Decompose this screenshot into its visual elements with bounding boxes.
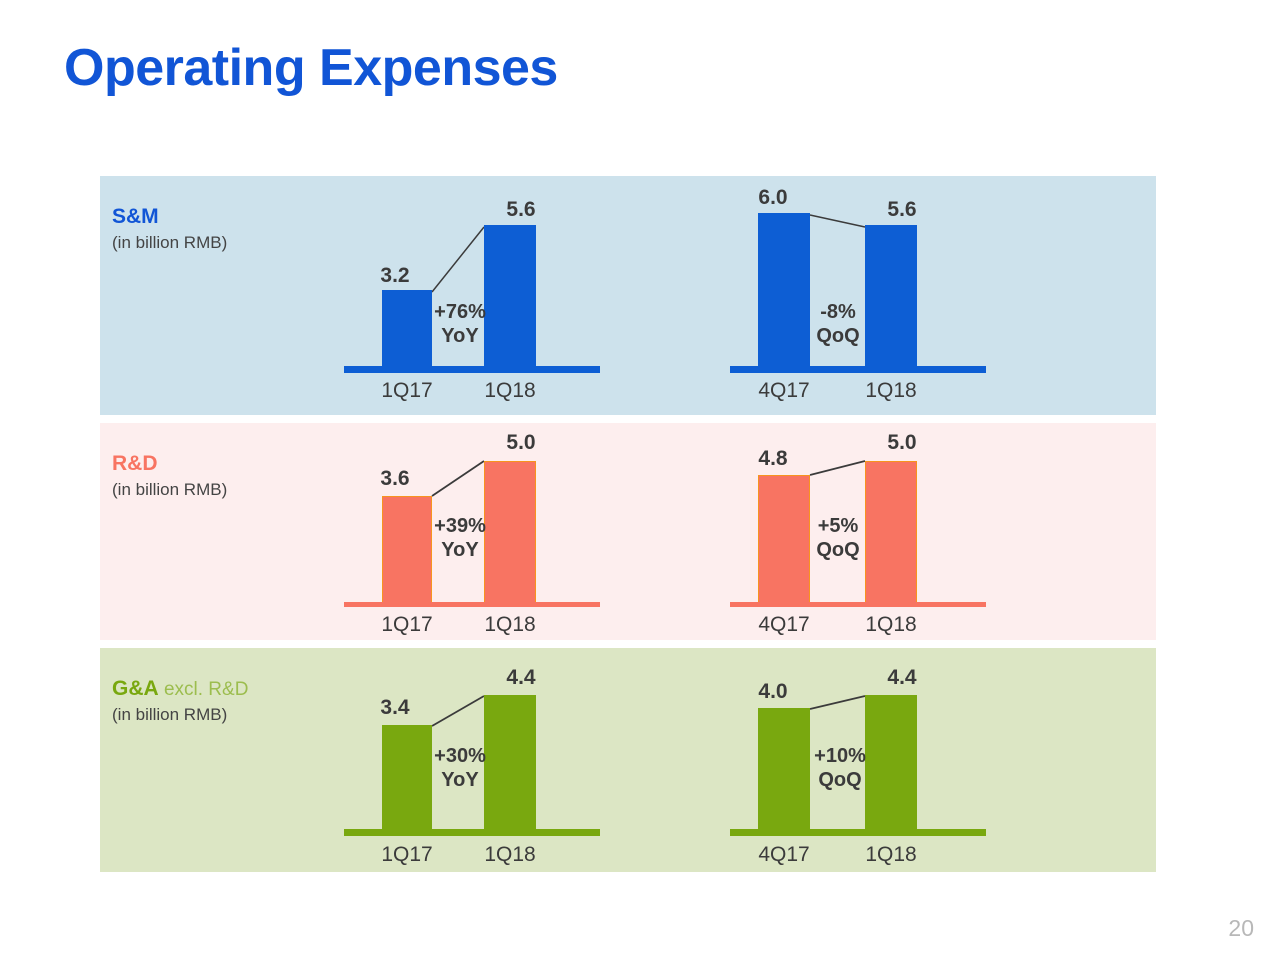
- delta-pct-rd-qoq: +5%: [818, 515, 859, 537]
- chart-rd-yoy: 3.6 5.0 +39% YoY 1Q17 1Q18: [344, 423, 600, 640]
- panel-units-ga: (in billion RMB): [112, 705, 248, 726]
- bar-value-ga-qoq-1: 4.4: [865, 666, 939, 690]
- baseline-sm-yoy: [344, 366, 600, 373]
- baseline-rd-qoq: [730, 602, 986, 607]
- bar-sm-yoy-1q18: [484, 225, 536, 366]
- bar-ga-qoq-4q17: [758, 708, 810, 830]
- panel-category-sm: S&M: [112, 205, 159, 228]
- page-title: Operating Expenses: [64, 42, 558, 94]
- panel-label-sm: S&M (in billion RMB): [112, 204, 227, 253]
- panel-label-ga: G&A excl. R&D (in billion RMB): [112, 676, 248, 725]
- chart-sm-yoy: 3.2 5.6 +76% YoY 1Q17 1Q18: [344, 176, 600, 415]
- cat-label-rd-yoy-0: 1Q17: [364, 613, 450, 637]
- cat-label-sm-yoy-1: 1Q18: [467, 379, 553, 403]
- cat-label-ga-yoy-0: 1Q17: [364, 843, 450, 867]
- delta-rd-yoy: +39% YoY: [432, 515, 488, 562]
- chart-ga-qoq: 4.0 4.4 +10% QoQ 4Q17 1Q18: [730, 648, 986, 872]
- cat-label-sm-yoy-0: 1Q17: [364, 379, 450, 403]
- baseline-rd-yoy: [344, 602, 600, 607]
- panel-units-sm: (in billion RMB): [112, 233, 227, 254]
- baseline-ga-qoq: [730, 829, 986, 836]
- bar-rd-yoy-1q17: [382, 496, 432, 603]
- chart-sm-qoq: 6.0 5.6 -8% QoQ 4Q17 1Q18: [730, 176, 986, 415]
- chart-rd-qoq: 4.8 5.0 +5% QoQ 4Q17 1Q18: [730, 423, 986, 640]
- panel-ga: G&A excl. R&D (in billion RMB) 3.4 4.4 +…: [100, 648, 1156, 872]
- baseline-sm-qoq: [730, 366, 986, 373]
- delta-pct-sm-qoq: -8%: [820, 301, 856, 323]
- cat-label-rd-qoq-1: 1Q18: [848, 613, 934, 637]
- delta-pct-rd-yoy: +39%: [434, 515, 486, 537]
- bar-value-rd-qoq-0: 4.8: [736, 447, 810, 471]
- bar-value-sm-qoq-0: 6.0: [736, 186, 810, 210]
- panel-category-sub-ga: excl. R&D: [159, 679, 249, 700]
- panel-units-rd: (in billion RMB): [112, 480, 227, 501]
- delta-period-sm-yoy: YoY: [441, 325, 478, 347]
- bar-ga-qoq-1q18: [865, 695, 917, 830]
- bar-value-ga-qoq-0: 4.0: [736, 680, 810, 704]
- bar-value-ga-yoy-0: 3.4: [358, 696, 432, 720]
- bar-value-rd-yoy-a: 3.6: [358, 467, 432, 491]
- bar-ga-yoy-1q17: [382, 725, 432, 830]
- panel-label-rd: R&D (in billion RMB): [112, 451, 227, 500]
- delta-period-ga-yoy: YoY: [441, 769, 478, 791]
- delta-period-ga-qoq: QoQ: [818, 769, 861, 791]
- bar-rd-qoq-4q17: [758, 475, 810, 603]
- bar-value-sm-yoy-1: 5.6: [484, 198, 558, 222]
- cat-label-sm-qoq-0: 4Q17: [741, 379, 827, 403]
- delta-sm-yoy: +76% YoY: [432, 301, 488, 348]
- bar-value-rd-yoy-b: 5.0: [484, 431, 558, 455]
- bar-sm-qoq-4q17: [758, 213, 810, 366]
- delta-pct-ga-yoy: +30%: [434, 745, 486, 767]
- cat-label-rd-qoq-0: 4Q17: [741, 613, 827, 637]
- delta-pct-ga-qoq: +10%: [814, 745, 866, 767]
- delta-period-rd-yoy: YoY: [441, 539, 478, 561]
- cat-label-sm-qoq-1: 1Q18: [848, 379, 934, 403]
- bar-value-sm-yoy-0: 3.2: [358, 264, 432, 288]
- bar-ga-yoy-1q18: [484, 695, 536, 830]
- delta-period-sm-qoq: QoQ: [816, 325, 859, 347]
- bar-rd-yoy-1q18: [484, 461, 536, 603]
- delta-period-rd-qoq: QoQ: [816, 539, 859, 561]
- bar-value-rd-qoq-1: 5.0: [865, 431, 939, 455]
- page-number: 20: [1228, 915, 1254, 942]
- baseline-ga-yoy: [344, 829, 600, 836]
- bar-value-sm-qoq-1: 5.6: [865, 198, 939, 222]
- cat-label-ga-yoy-1: 1Q18: [467, 843, 553, 867]
- panel-rd: R&D (in billion RMB) 3.6 5.0 +39% YoY 1Q…: [100, 423, 1156, 640]
- delta-sm-qoq: -8% QoQ: [810, 301, 866, 348]
- bar-rd-qoq-1q18: [865, 461, 917, 603]
- cat-label-rd-yoy-1: 1Q18: [467, 613, 553, 637]
- chart-ga-yoy: 3.4 4.4 +30% YoY 1Q17 1Q18: [344, 648, 600, 872]
- panel-category-ga: G&A: [112, 677, 159, 700]
- delta-ga-yoy: +30% YoY: [432, 745, 488, 792]
- panel-category-rd: R&D: [112, 452, 158, 475]
- bar-value-ga-yoy-1: 4.4: [484, 666, 558, 690]
- delta-ga-qoq: +10% QoQ: [810, 745, 870, 792]
- delta-rd-qoq: +5% QoQ: [810, 515, 866, 562]
- delta-pct-sm-yoy: +76%: [434, 301, 486, 323]
- cat-label-ga-qoq-1: 1Q18: [848, 843, 934, 867]
- bar-sm-yoy-1q17: [382, 290, 432, 366]
- cat-label-ga-qoq-0: 4Q17: [741, 843, 827, 867]
- panel-sm: S&M (in billion RMB) 3.2 5.6 +76% YoY 1Q…: [100, 176, 1156, 415]
- bar-sm-qoq-1q18: [865, 225, 917, 366]
